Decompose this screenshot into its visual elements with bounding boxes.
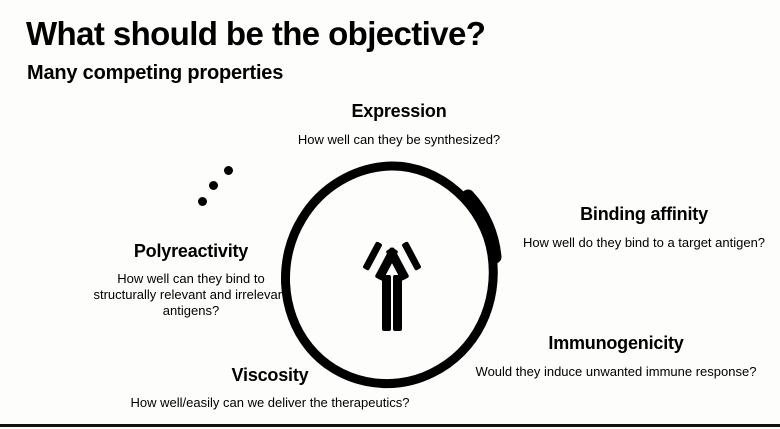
antibody-y-icon <box>352 233 432 335</box>
property-immunogenicity: Immunogenicity Would they induce unwante… <box>452 333 780 380</box>
property-polyreactivity-label: Polyreactivity <box>88 241 294 262</box>
property-viscosity-label: Viscosity <box>95 365 445 386</box>
dot-1 <box>224 166 233 175</box>
slide-canvas: What should be the objective? Many compe… <box>0 0 780 429</box>
property-immunogenicity-label: Immunogenicity <box>452 333 780 354</box>
property-binding-affinity-description: How well do they bind to a target antige… <box>508 235 780 251</box>
property-polyreactivity: Polyreactivity How well can they bind to… <box>88 241 294 319</box>
dot-2 <box>209 181 218 190</box>
property-binding-affinity: Binding affinity How well do they bind t… <box>508 204 780 251</box>
bottom-divider <box>0 424 780 427</box>
property-expression-description: How well can they be synthesized? <box>234 132 564 148</box>
property-expression: Expression How well can they be synthesi… <box>234 101 564 148</box>
page-title: What should be the objective? <box>26 17 485 52</box>
three-dots-icon <box>196 162 240 210</box>
property-immunogenicity-description: Would they induce unwanted immune respon… <box>452 364 780 380</box>
property-binding-affinity-label: Binding affinity <box>508 204 780 225</box>
property-viscosity-description: How well/easily can we deliver the thera… <box>20 395 520 411</box>
page-subtitle: Many competing properties <box>27 63 283 84</box>
dot-3 <box>198 197 207 206</box>
property-polyreactivity-description: How well can they bind to structurally r… <box>88 271 294 320</box>
property-expression-label: Expression <box>234 101 564 122</box>
property-viscosity: Viscosity How well/easily can we deliver… <box>95 365 445 411</box>
antibody-svg <box>352 233 432 335</box>
